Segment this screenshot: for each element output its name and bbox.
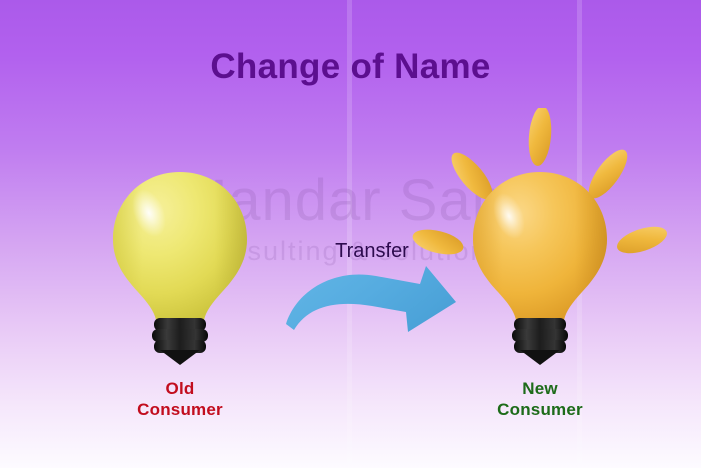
bulb-screw-base	[512, 318, 568, 365]
light-bulb-unlit-icon	[92, 160, 268, 365]
change-of-name-graphic: Mandar Sant consulting & solutions Chang…	[0, 0, 701, 468]
light-bulb-lit-icon	[452, 160, 628, 365]
bulb-screw-base	[152, 318, 208, 365]
transfer-arrow-wrap	[280, 262, 460, 342]
old-consumer-caption: Old Consumer	[92, 379, 268, 420]
old-bulb-stage	[92, 160, 268, 365]
old-consumer-group: Old Consumer	[92, 160, 268, 420]
transfer-label: Transfer	[287, 240, 457, 263]
new-consumer-group: New Consumer	[452, 160, 628, 420]
new-bulb-stage	[452, 160, 628, 365]
transfer-arrow-icon	[280, 262, 460, 337]
new-consumer-caption: New Consumer	[452, 379, 628, 420]
new-consumer-caption-line2: Consumer	[452, 400, 628, 421]
old-consumer-caption-line2: Consumer	[92, 400, 268, 421]
old-consumer-caption-line1: Old	[92, 379, 268, 400]
page-title: Change of Name	[0, 47, 701, 87]
new-consumer-caption-line1: New	[452, 379, 628, 400]
